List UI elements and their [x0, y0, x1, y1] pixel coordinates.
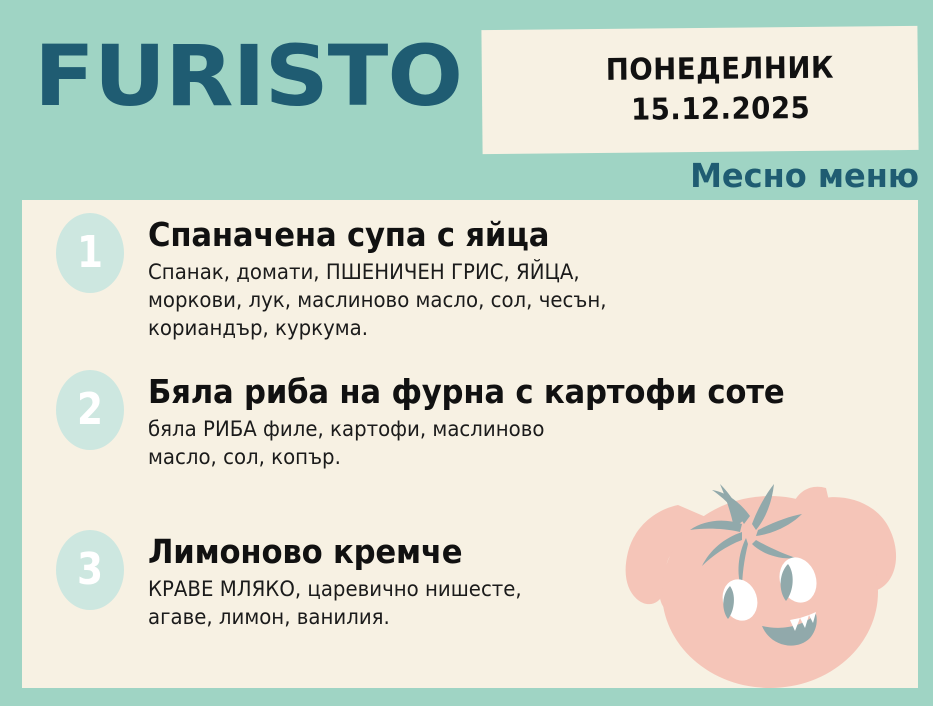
date-card-content: ПОНЕДЕЛНИК 15.12.2025 [481, 26, 918, 154]
dish-ingredients: Спанак, домати, ПШЕНИЧЕН ГРИС, ЯЙЦА, мор… [148, 258, 712, 342]
dish-text-block: Бяла риба на фурна с картофи соте бяла Р… [148, 370, 908, 471]
dish-list: 1 Спаначена супа с яйца Спанак, домати, … [22, 200, 918, 688]
menu-kind-label: Месно меню [690, 158, 919, 194]
dish-text-block: Спаначена супа с яйца Спанак, домати, ПШ… [148, 213, 908, 342]
dish-title: Спаначена супа с яйца [148, 215, 855, 255]
day-name: ПОНЕДЕЛНИК [606, 52, 835, 88]
date-card: ПОНЕДЕЛНИК 15.12.2025 [481, 26, 918, 154]
dish-number-badge: 1 [56, 213, 124, 293]
dish-text-block: Лимоново кремче КРАВЕ МЛЯКО, царевично н… [148, 530, 908, 631]
daily-menu-poster: FURISTO ПОНЕДЕЛНИК 15.12.2025 Месно меню [0, 0, 933, 706]
date-value: 15.12.2025 [630, 92, 810, 128]
menu-card: 1 Спаначена супа с яйца Спанак, домати, … [22, 200, 918, 688]
dish-item: 2 Бяла риба на фурна с картофи соте бяла… [50, 370, 908, 471]
dish-title: Бяла риба на фурна с картофи соте [148, 372, 855, 412]
dish-number-badge: 3 [56, 530, 124, 610]
brand-logo: FURISTO [34, 34, 462, 118]
dish-item: 1 Спаначена супа с яйца Спанак, домати, … [50, 213, 908, 342]
dish-ingredients: бяла РИБА филе, картофи, маслиново масло… [148, 415, 712, 471]
dish-ingredients: КРАВЕ МЛЯКО, царевично нишесте, агаве, л… [148, 575, 712, 631]
dish-title: Лимоново кремче [148, 532, 855, 572]
dish-item: 3 Лимоново кремче КРАВЕ МЛЯКО, царевично… [50, 530, 908, 631]
dish-number-badge: 2 [56, 370, 124, 450]
